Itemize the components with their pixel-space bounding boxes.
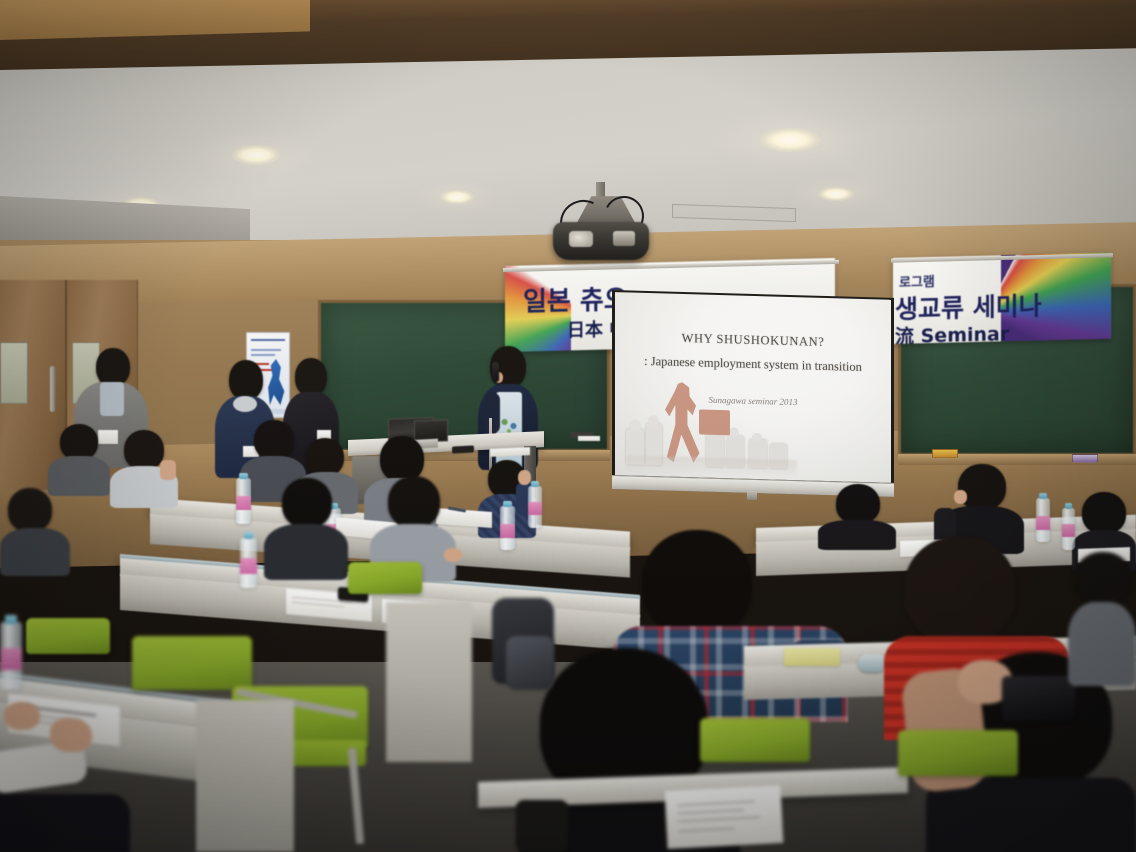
- banner-right: 로그램 생교류 세미나 流 Seminar 호: [893, 253, 1111, 344]
- head: [60, 424, 98, 460]
- head: [124, 430, 164, 470]
- bottle-cap: [1039, 493, 1047, 499]
- empty-chair[interactable]: [348, 562, 422, 594]
- head: [295, 358, 327, 396]
- head: [229, 360, 263, 400]
- paper-text-line: [678, 816, 760, 822]
- clapping-hands: [160, 460, 176, 480]
- slide-title: WHY SHUSHOKUNAN?: [615, 329, 891, 352]
- shirt-collar: [100, 382, 124, 416]
- dress-floral-pattern: [498, 414, 520, 434]
- desk-side-panel: [386, 602, 472, 762]
- bottle-cap: [239, 473, 247, 479]
- foreground-handout-center: [665, 785, 784, 849]
- hand: [4, 702, 40, 730]
- crowd-figure-head: [629, 420, 641, 431]
- smartphone[interactable]: [516, 800, 568, 852]
- downlight: [232, 145, 280, 165]
- poster-text-line: [251, 349, 281, 351]
- head: [904, 536, 1016, 644]
- hand: [954, 490, 967, 504]
- bag-on-floor: [506, 636, 554, 690]
- torso: [264, 524, 348, 580]
- downlight: [440, 190, 474, 204]
- head: [958, 464, 1006, 510]
- projector-vent: [613, 231, 635, 246]
- chalk-box: [1072, 454, 1098, 463]
- bottle-cap: [531, 481, 539, 487]
- crowd-figure-head: [729, 427, 739, 437]
- audience-person-row3-2: [110, 430, 178, 506]
- crowd-figure-head: [752, 433, 762, 442]
- audience-person-row2-2: [264, 478, 348, 578]
- head: [8, 488, 52, 532]
- banner-right-japanese-text: 流 Seminar: [895, 319, 1009, 344]
- head: [1074, 552, 1132, 606]
- water-bottle[interactable]: [236, 478, 251, 524]
- lecture-hall-photo: 일본 츄오 日本 中 로그램 생교류 세미나 流 Seminar 호: [0, 0, 1136, 852]
- bottle-cap: [1065, 503, 1072, 509]
- bottle-label: [528, 502, 542, 515]
- chalk-box: [932, 449, 958, 458]
- door-handle[interactable]: [50, 366, 55, 412]
- water-bottle[interactable]: [240, 538, 257, 588]
- hand: [50, 718, 92, 752]
- poster-text-line: [251, 354, 275, 356]
- audience-person-row3-1: [48, 424, 110, 494]
- downlight: [818, 187, 854, 201]
- front-desk-paper: [578, 436, 600, 441]
- paper-text-line: [678, 809, 744, 814]
- foreground-person-left-hands: [0, 690, 130, 852]
- paper-text-line: [292, 602, 344, 608]
- collar: [233, 396, 257, 412]
- computer-mouse[interactable]: [858, 654, 886, 672]
- bottle-label: [236, 496, 251, 510]
- paper-text-line: [679, 827, 735, 832]
- desk-side-panel: [196, 700, 294, 852]
- empty-chair-right[interactable]: [700, 718, 810, 762]
- bottle-label: [240, 558, 257, 574]
- water-bottle[interactable]: [500, 506, 515, 550]
- bottle-label: [1036, 516, 1050, 530]
- poster-title-bar: [251, 339, 285, 341]
- head: [642, 530, 752, 636]
- door-window: [0, 342, 28, 404]
- head: [388, 476, 440, 528]
- torso: [0, 528, 70, 576]
- ceiling-vent: [672, 204, 796, 222]
- torso: [1068, 602, 1136, 686]
- briefcase-icon: [699, 409, 730, 435]
- hand: [518, 470, 531, 485]
- water-bottle[interactable]: [0, 622, 22, 690]
- bottle-cap: [5, 615, 17, 624]
- remote-control[interactable]: [452, 445, 474, 453]
- head: [282, 478, 332, 528]
- water-bottle[interactable]: [528, 486, 542, 528]
- slide-artwork: [626, 369, 792, 469]
- head: [836, 484, 880, 524]
- audience-person-right-edge: [1068, 552, 1136, 682]
- torso-dark: [0, 794, 130, 852]
- audience-person-row2-1: [0, 488, 70, 574]
- empty-chair-foreground[interactable]: [132, 636, 252, 690]
- head: [306, 438, 344, 476]
- handout-paper-yellow: [784, 648, 840, 666]
- hand: [444, 548, 462, 562]
- projection-screen: WHY SHUSHOKUNAN? : Japanese employment s…: [612, 290, 894, 497]
- screen-surface: WHY SHUSHOKUNAN? : Japanese employment s…: [615, 292, 891, 483]
- head: [254, 420, 294, 460]
- empty-chair[interactable]: [26, 618, 110, 654]
- paper-text-line: [677, 800, 755, 806]
- ceiling-projector: [553, 222, 649, 260]
- projector-lens: [569, 231, 593, 247]
- empty-chair-right[interactable]: [898, 730, 1018, 776]
- torso: [926, 778, 1136, 852]
- downlight: [760, 128, 820, 152]
- bottle-label: [500, 524, 515, 538]
- head: [1082, 492, 1126, 534]
- crowd-figure-head: [648, 415, 660, 426]
- microphone[interactable]: [492, 362, 499, 382]
- slide-reflection: [626, 455, 797, 478]
- bottle-label: [0, 648, 22, 670]
- screen-pull-tab[interactable]: [747, 491, 757, 500]
- bottle-cap: [503, 501, 511, 507]
- presenter-arm: [484, 392, 500, 434]
- head: [96, 348, 130, 386]
- tablet-device[interactable]: [1002, 676, 1076, 722]
- bottle-cap: [244, 532, 254, 539]
- banner-right-program-text: 로그램: [899, 271, 935, 291]
